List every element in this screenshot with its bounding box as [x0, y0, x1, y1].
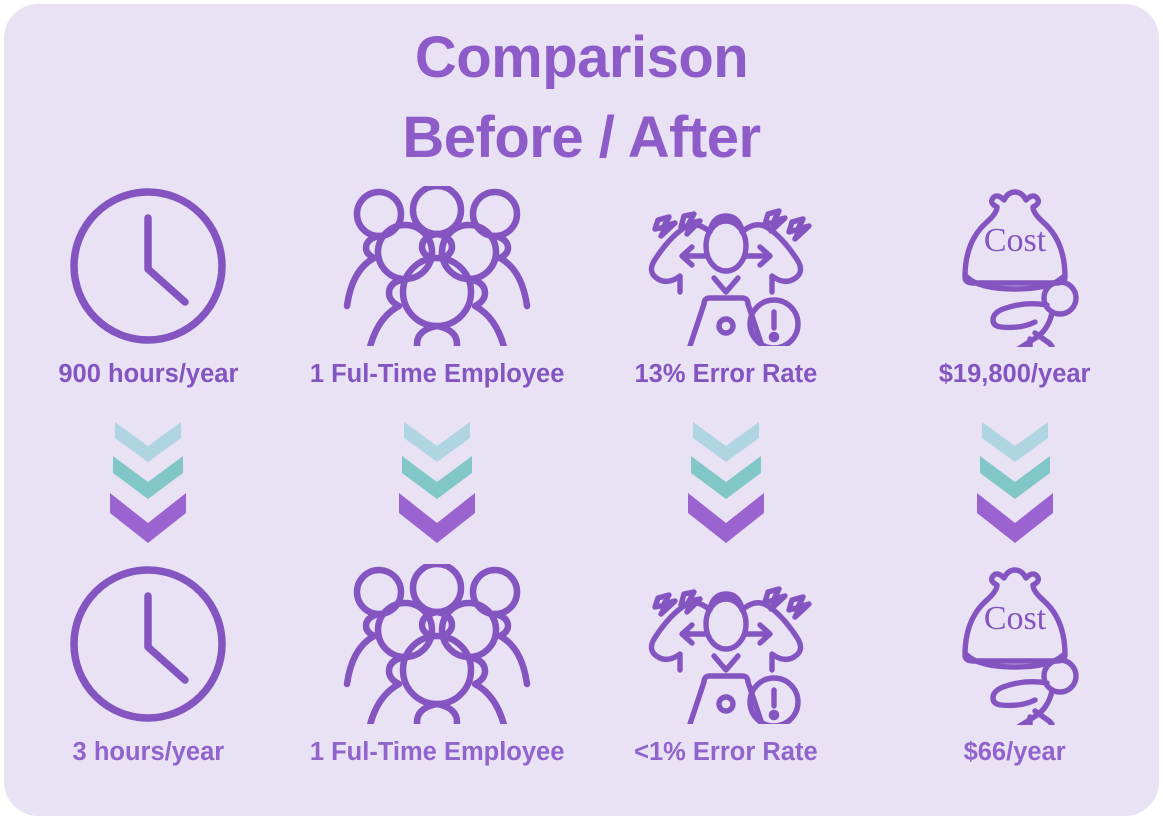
page-title: Comparison Before / After — [4, 18, 1159, 178]
before-label-cost: $19,800/year — [939, 360, 1091, 389]
chevron-stack — [688, 422, 764, 543]
after-row: 3 hours/year — [4, 564, 1159, 779]
before-column-time: 900 hours/year — [4, 186, 293, 386]
cost-bag-label: Cost — [983, 222, 1046, 259]
before-column-staff: 1 Ful-Time Employee — [293, 186, 582, 386]
cost-bag-carrier-icon: Cost — [929, 564, 1101, 724]
before-label-staff: 1 Ful-Time Employee — [310, 360, 565, 389]
title-line-1: Comparison — [4, 18, 1159, 98]
after-label-cost: $66/year — [964, 738, 1066, 767]
before-column-errors: 13% Error Rate — [582, 186, 871, 386]
before-column-cost: Cost $19,800/year — [870, 186, 1159, 386]
comparison-card: Comparison Before / After 900 hours/year — [4, 4, 1159, 816]
chevron-down-icon — [977, 493, 1053, 543]
before-label-errors: 13% Error Rate — [634, 360, 817, 389]
title-line-2: Before / After — [4, 98, 1159, 178]
transition-arrows-row — [4, 422, 1159, 552]
cost-bag-carrier-icon: Cost — [929, 186, 1101, 346]
arrow-column-staff — [293, 422, 582, 552]
after-label-time: 3 hours/year — [73, 738, 225, 767]
after-column-staff: 1 Ful-Time Employee — [293, 564, 582, 779]
before-row: 900 hours/year — [4, 186, 1159, 386]
stressed-person-laptop-error-icon — [640, 564, 812, 724]
chevron-stack — [110, 422, 186, 543]
after-column-cost: Cost $66/year — [870, 564, 1159, 779]
arrow-column-cost — [870, 422, 1159, 552]
after-label-staff: 1 Ful-Time Employee — [310, 738, 565, 767]
before-label-time: 900 hours/year — [58, 360, 238, 389]
after-column-errors: <1% Error Rate — [582, 564, 871, 779]
chevron-down-icon — [688, 493, 764, 543]
chevron-stack — [399, 422, 475, 543]
after-column-time: 3 hours/year — [4, 564, 293, 779]
people-group-icon — [337, 186, 537, 346]
chevron-down-icon — [110, 493, 186, 543]
arrow-column-time — [4, 422, 293, 552]
after-label-errors: <1% Error Rate — [634, 738, 818, 767]
cost-bag-label: Cost — [983, 600, 1046, 637]
stressed-person-laptop-error-icon — [640, 186, 812, 346]
clock-icon — [63, 564, 233, 724]
clock-icon — [63, 186, 233, 346]
chevron-stack — [977, 422, 1053, 543]
arrow-column-errors — [582, 422, 871, 552]
chevron-down-icon — [399, 493, 475, 543]
people-group-icon — [337, 564, 537, 724]
